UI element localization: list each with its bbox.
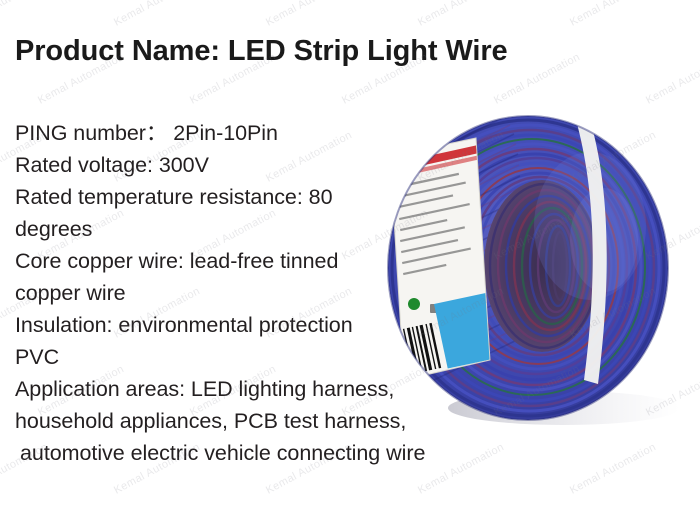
page-title: Product Name: LED Strip Light Wire [15, 35, 508, 68]
watermark-text: Kemal Automation [416, 0, 506, 29]
spec-list: PING number： 2Pin-10Pin Rated voltage: 3… [15, 117, 485, 469]
watermark-text: Kemal Automation [568, 441, 658, 497]
spec-line-core-copper-wire-cont: copper wire [15, 277, 485, 309]
spec-line-application-areas-cont1: household appliances, PCB test harness, [15, 405, 485, 437]
spec-line-rated-temperature-cont: degrees [15, 213, 485, 245]
watermark-text: Kemal Automation [644, 51, 700, 107]
spec-line-core-copper-wire: Core copper wire: lead-free tinned [15, 245, 485, 277]
spec-line-application-areas: Application areas: LED lighting harness, [15, 373, 485, 405]
spec-line-insulation-cont: PVC [15, 341, 485, 373]
watermark-text: Kemal Automation [112, 0, 202, 29]
spec-line-ping-number: PING number： 2Pin-10Pin [15, 117, 485, 149]
spec-line-application-areas-cont2: automotive electric vehicle connecting w… [15, 437, 485, 469]
product-spec-image: Product Name: LED Strip Light Wire PING … [0, 0, 700, 507]
watermark-text: Kemal Automation [264, 0, 354, 29]
spec-line-insulation: Insulation: environmental protection [15, 309, 485, 341]
spec-line-rated-voltage: Rated voltage: 300V [15, 149, 485, 181]
spec-line-rated-temperature: Rated temperature resistance: 80 [15, 181, 485, 213]
watermark-text: Kemal Automation [568, 0, 658, 29]
watermark-text: Kemal Automation [0, 0, 50, 29]
